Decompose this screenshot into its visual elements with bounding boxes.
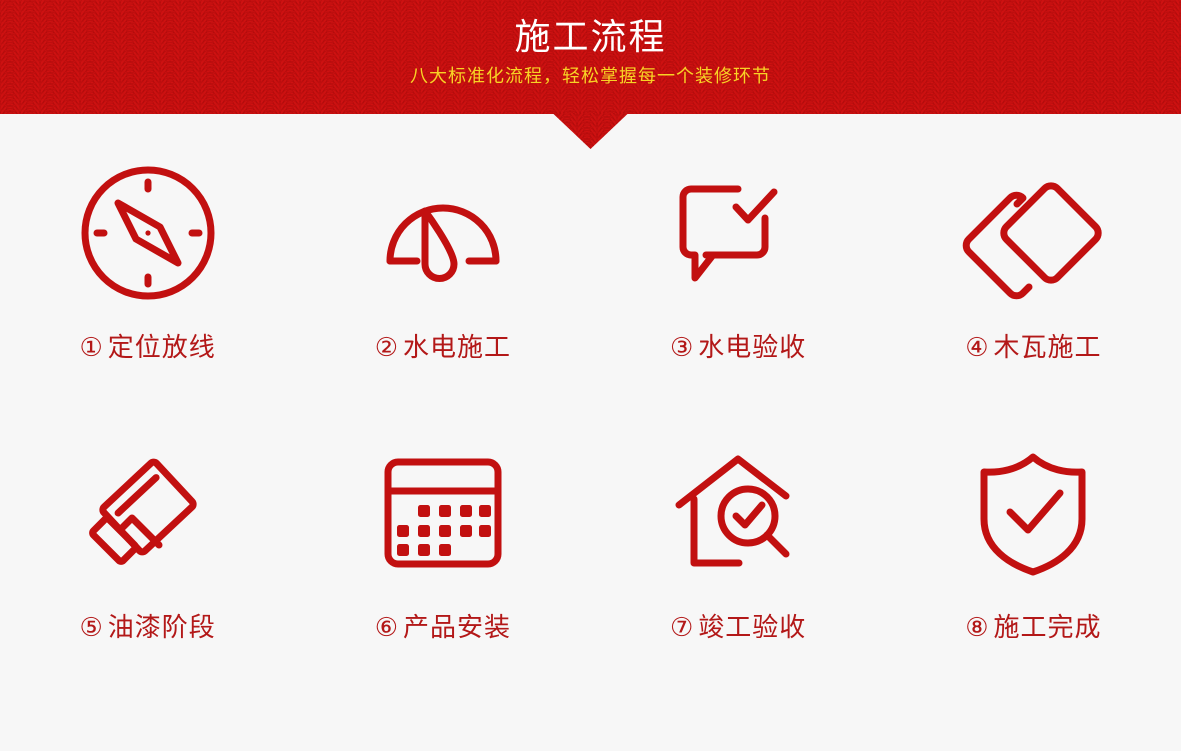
banner-triangle-notch	[553, 113, 629, 149]
step-label-7: ⑦竣工验收	[670, 610, 806, 644]
step-item-8: ⑧施工完成	[886, 438, 1181, 718]
step-text-3: 水电验收	[698, 332, 806, 362]
shield-check-icon	[958, 438, 1108, 588]
page-subtitle: 八大标准化流程，轻松掌握每一个装修环节	[0, 62, 1181, 90]
banner-text-block: 施工流程 八大标准化流程，轻松掌握每一个装修环节	[0, 0, 1181, 90]
step-number-4: ④	[965, 332, 989, 362]
paint-roller-icon	[73, 438, 223, 588]
step-label-5: ⑤油漆阶段	[79, 610, 215, 644]
calendar-icon	[368, 438, 518, 588]
step-number-2: ②	[375, 332, 399, 362]
step-text-6: 产品安装	[403, 612, 511, 642]
gauge-icon	[368, 158, 518, 308]
step-number-3: ③	[670, 332, 694, 362]
step-item-5: ⑤油漆阶段	[0, 438, 295, 718]
step-item-2: ②水电施工	[295, 158, 590, 438]
step-number-7: ⑦	[670, 612, 694, 642]
step-text-1: 定位放线	[108, 332, 216, 362]
step-label-4: ④木瓦施工	[965, 330, 1101, 364]
step-text-4: 木瓦施工	[994, 332, 1102, 362]
header-banner: 施工流程 八大标准化流程，轻松掌握每一个装修环节	[0, 0, 1181, 149]
step-text-7: 竣工验收	[698, 612, 806, 642]
house-magnifier-check-icon	[663, 438, 813, 588]
step-text-8: 施工完成	[994, 612, 1102, 642]
step-item-4: ④木瓦施工	[886, 158, 1181, 438]
step-number-5: ⑤	[79, 612, 103, 642]
step-label-8: ⑧施工完成	[965, 610, 1101, 644]
step-item-6: ⑥产品安装	[295, 438, 590, 718]
banner-background: 施工流程 八大标准化流程，轻松掌握每一个装修环节	[0, 0, 1181, 114]
step-number-1: ①	[79, 332, 103, 362]
step-label-2: ②水电施工	[375, 330, 511, 364]
step-label-1: ①定位放线	[79, 330, 215, 364]
step-number-8: ⑧	[965, 612, 989, 642]
page-title: 施工流程	[0, 14, 1181, 60]
step-number-6: ⑥	[375, 612, 399, 642]
speech-bubble-check-icon	[663, 158, 813, 308]
step-text-2: 水电施工	[403, 332, 511, 362]
tiles-diamonds-icon	[958, 158, 1108, 308]
step-item-3: ③水电验收	[591, 158, 886, 438]
step-item-7: ⑦竣工验收	[591, 438, 886, 718]
step-label-3: ③水电验收	[670, 330, 806, 364]
step-item-1: ①定位放线	[0, 158, 295, 438]
step-label-6: ⑥产品安装	[375, 610, 511, 644]
seigaiha-wave-pattern-notch	[553, 113, 629, 149]
step-text-5: 油漆阶段	[108, 612, 216, 642]
compass-icon	[73, 158, 223, 308]
process-steps-grid: ①定位放线 ②水电施工	[0, 158, 1181, 718]
